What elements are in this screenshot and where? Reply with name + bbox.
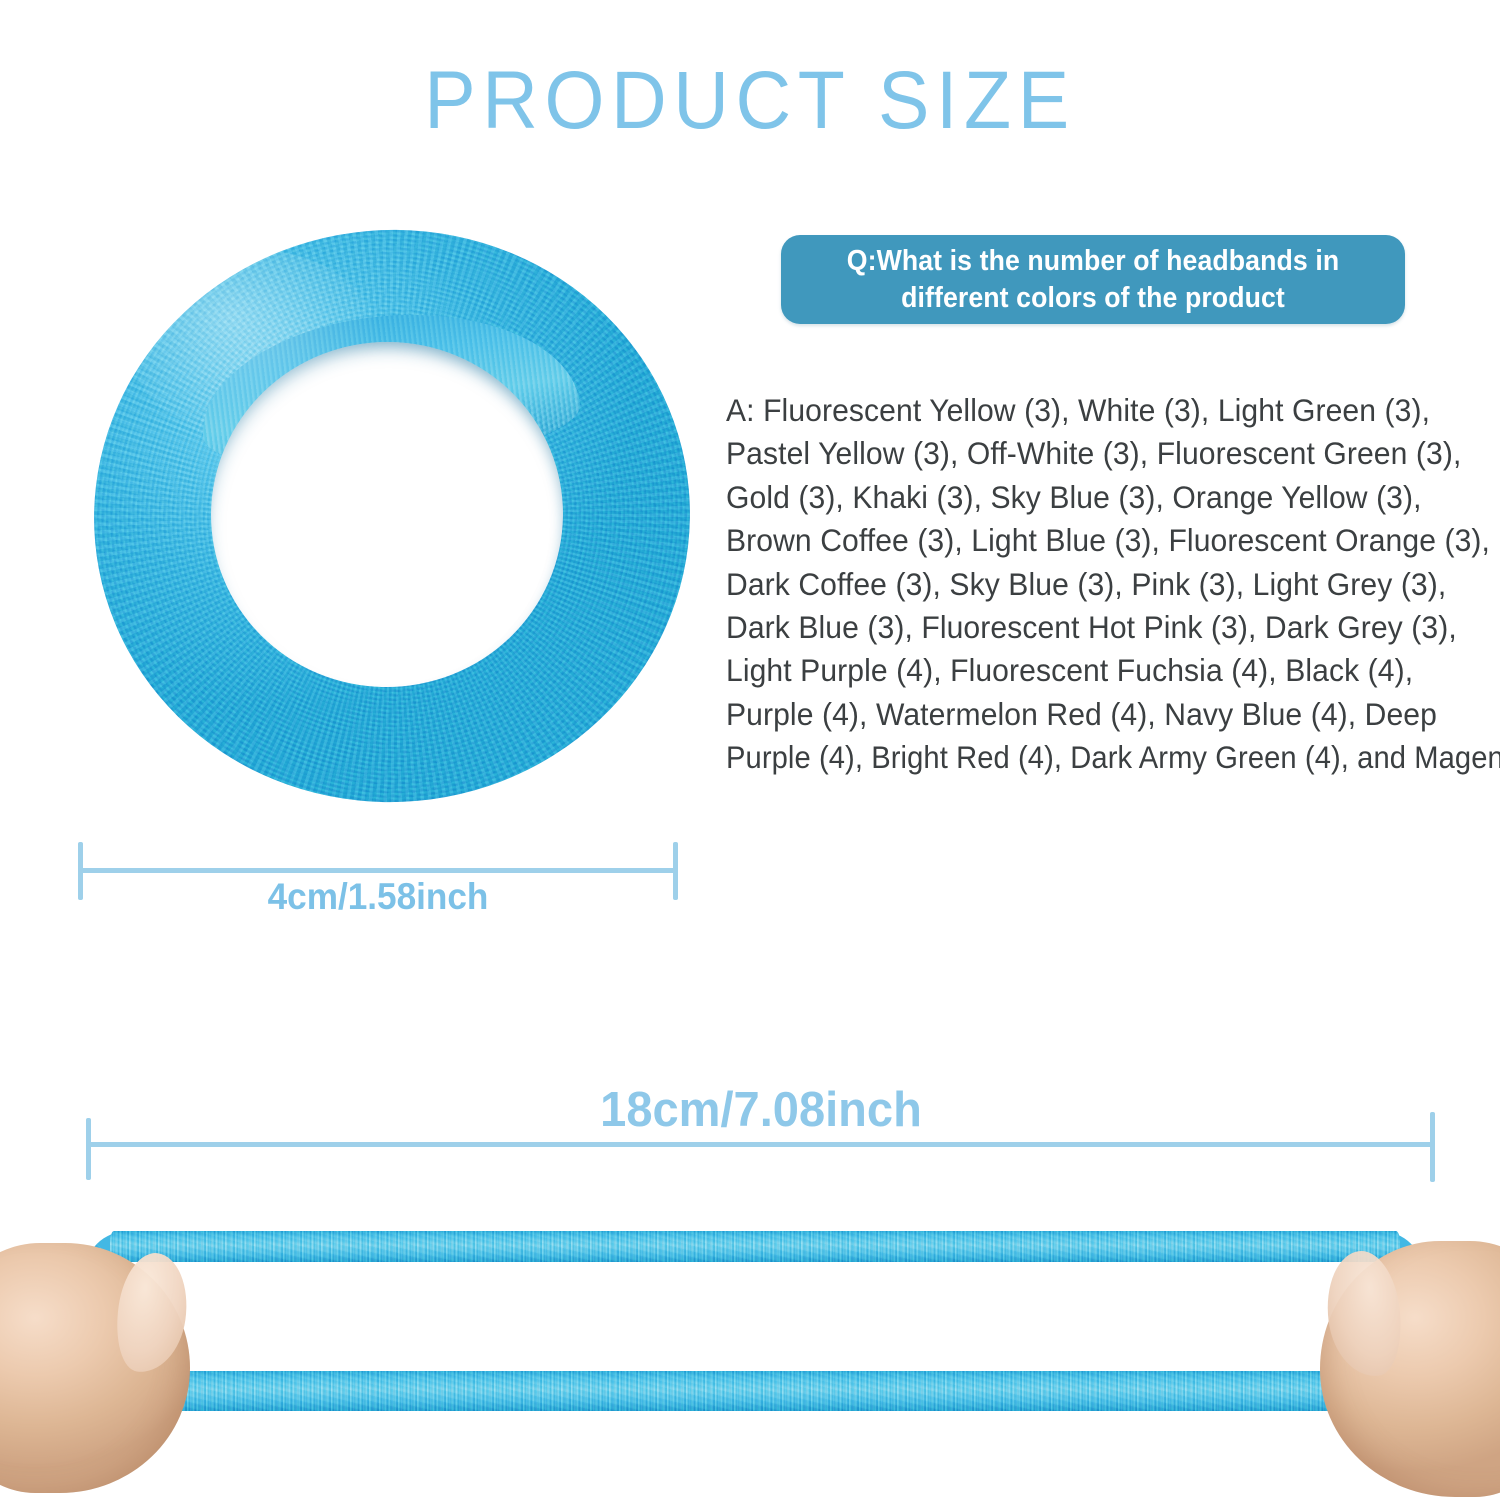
product-photo-relaxed-ring [72,208,712,828]
stretched-length-dimension-label: 18cm/7.08inch [115,1082,1407,1138]
page-title: PRODUCT SIZE [45,58,1455,144]
faq-answer-line: A: Fluorescent Yellow (3), White (3), Li… [726,389,1450,432]
stretched-length-dimension-cap-left [86,1118,91,1180]
faq-answer-line: Purple (4), Bright Red (4), Dark Army Gr… [726,736,1427,779]
band-strand-upper [110,1231,1400,1262]
stretched-length-dimension-cap-right [1430,1112,1435,1182]
faq-answer-line: Light Purple (4), Fluorescent Fuchsia (4… [726,649,1450,692]
faq-answer-line: Pastel Yellow (3), Off-White (3), Fluore… [726,432,1450,475]
stretched-length-dimension-line [86,1142,1434,1147]
faq-answer-line: Brown Coffee (3), Light Blue (3), Fluore… [726,519,1450,562]
faq-answer-line: Dark Coffee (3), Sky Blue (3), Pink (3),… [726,563,1450,606]
band-strand-lower [110,1371,1400,1411]
faq-answer-line: Dark Blue (3), Fluorescent Hot Pink (3),… [726,606,1450,649]
faq-answer-line: Purple (4), Watermelon Red (4), Navy Blu… [726,693,1450,736]
faq-question-text: Q:What is the number of headbands in dif… [806,243,1380,317]
faq-answer-line: Gold (3), Khaki (3), Sky Blue (3), Orang… [726,476,1450,519]
diameter-dimension-cap-right [673,842,678,900]
faq-answer-block: A: Fluorescent Yellow (3), White (3), Li… [726,389,1484,780]
diameter-dimension-line [78,868,678,873]
product-photo-stretched-band [0,1195,1500,1500]
product-size-infographic: PRODUCT SIZE 4cm/1.58inch Q:What is the … [0,0,1500,1500]
diameter-dimension-label: 4cm/1.58inch [93,876,663,918]
faq-question-banner: Q:What is the number of headbands in dif… [781,235,1405,324]
